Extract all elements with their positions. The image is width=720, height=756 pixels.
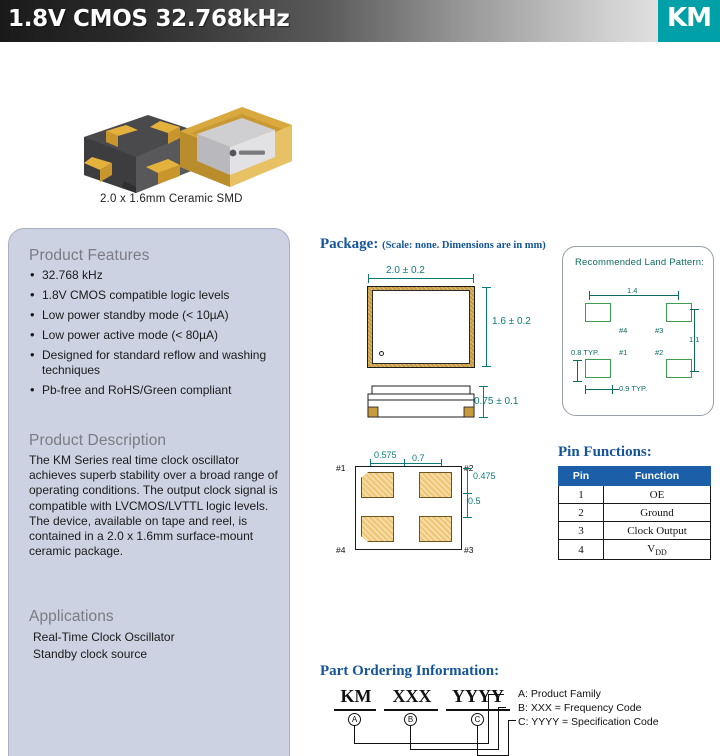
sidebar-panel: Product Features 32.768 kHz 1.8V CMOS co…	[8, 228, 290, 756]
land-dim-tick-11-t	[690, 309, 699, 310]
land-dim-tick-14-l	[589, 291, 590, 300]
applications-heading: Applications	[29, 608, 279, 626]
brand-logo: KM	[658, 0, 720, 42]
land-dim-label-14: 1.4	[627, 286, 637, 295]
dim-label-pad-pitch: 0.7	[412, 453, 425, 463]
leader-a-tip	[488, 694, 504, 695]
pin-label-4: #4	[336, 545, 345, 555]
land-dim-line-09	[585, 389, 619, 390]
product-photo	[70, 95, 300, 205]
dim-label-package-thickness: 0.75 ± 0.1	[474, 396, 518, 407]
dim-line-width	[368, 278, 474, 279]
column-header-pin: Pin	[559, 467, 604, 486]
pin-functions-title: Pin Functions:	[558, 444, 652, 461]
page-header: 1.8V CMOS 32.768kHz KM	[0, 0, 720, 42]
land-dim-tick-11-b	[690, 371, 699, 372]
order-rule-a	[334, 709, 376, 711]
package-subtitle-text: (Scale: none. Dimensions are in mm)	[382, 240, 546, 251]
dim-tick-05-b	[463, 517, 472, 518]
product-features-section: Product Features 32.768 kHz 1.8V CMOS co…	[29, 247, 279, 403]
cell-function: VDD	[604, 540, 711, 560]
cell-pin: 2	[559, 504, 604, 522]
dim-line-07	[404, 463, 442, 464]
land-dim-line-14	[589, 295, 679, 296]
table-row: 4 VDD	[559, 540, 711, 560]
pin1-marker-icon	[379, 351, 384, 356]
cell-function: OE	[604, 486, 711, 504]
land-pin-label-2: #2	[655, 348, 663, 357]
pad-1	[361, 472, 394, 498]
order-legend-a: A: Product Family	[518, 688, 601, 700]
pin-label-3: #3	[464, 545, 473, 555]
land-pad-3	[666, 303, 692, 322]
order-rule-b	[384, 709, 438, 711]
cell-function: Clock Output	[604, 522, 711, 540]
land-dim-tick-08-b	[573, 381, 582, 382]
bottom-view-drawing	[355, 466, 462, 550]
list-item: Pb-free and RoHS/Green compliant	[29, 383, 279, 398]
list-item: 32.768 kHz	[29, 268, 279, 283]
order-token-km: KM	[334, 686, 378, 707]
leader-c-up	[508, 720, 509, 756]
pin-label-1: #1	[336, 463, 345, 473]
leader-b-v	[410, 726, 411, 750]
order-legend-b: B: XXX = Frequency Code	[518, 702, 641, 714]
leader-a-h	[354, 743, 489, 744]
product-features-list: 32.768 kHz 1.8V CMOS compatible logic le…	[29, 268, 279, 398]
dim-label-pad-height: 0.475	[473, 471, 496, 481]
pin-functions-table: Pin Function 1 OE 2 Ground 3 Clock Outpu…	[558, 466, 711, 560]
land-pin-label-1: #1	[619, 348, 627, 357]
leader-b-up	[498, 707, 499, 750]
land-dim-label-11: 1.1	[689, 335, 699, 344]
product-description-section: Product Description The KM Series real t…	[29, 432, 281, 559]
leader-c-tip	[508, 720, 516, 721]
list-item: Real-Time Clock Oscillator	[29, 629, 279, 646]
land-dim-line-08	[577, 360, 578, 382]
land-dim-tick-08-t	[573, 360, 582, 361]
part-ordering-diagram: KM XXX YYYY A B C A: Product Family B: X…	[330, 686, 715, 754]
order-rule-c	[446, 709, 510, 711]
dim-line-0475	[467, 468, 468, 494]
pad-2	[419, 472, 452, 498]
package-side-view	[367, 385, 475, 419]
list-item: Low power standby mode (< 10µA)	[29, 308, 279, 323]
land-dim-label-09: 0.9 TYP.	[619, 384, 647, 393]
cell-pin: 3	[559, 522, 604, 540]
dim-label-pad-offset: 0.575	[374, 450, 397, 460]
dim-line-height	[486, 287, 487, 367]
package-body-inner	[372, 290, 470, 364]
part-ordering-title: Part Ordering Information:	[320, 663, 499, 680]
table-header-row: Pin Function	[559, 467, 711, 486]
order-legend-c: C: YYYY = Specification Code	[518, 716, 659, 728]
dim-label-pad-gap: 0.5	[468, 496, 481, 506]
land-dim-tick-09-r	[612, 385, 613, 394]
order-token-xxx: XXX	[384, 686, 440, 707]
product-description-body: The KM Series real time clock oscillator…	[29, 453, 281, 559]
land-dim-tick-14-r	[678, 291, 679, 300]
applications-section: Applications Real-Time Clock Oscillator …	[29, 608, 279, 663]
dim-tick-right	[473, 274, 474, 283]
land-pad-2	[666, 359, 692, 378]
cell-function: Ground	[604, 504, 711, 522]
list-item: Standby clock source	[29, 646, 279, 663]
list-item: 1.8V CMOS compatible logic levels	[29, 288, 279, 303]
dim-tick-top	[482, 287, 491, 288]
leader-b-h	[410, 749, 499, 750]
column-header-function: Function	[604, 467, 711, 486]
pad-3	[419, 516, 452, 542]
dim-tick-bottom	[482, 366, 491, 367]
list-item: Low power active mode (< 80µA)	[29, 328, 279, 343]
list-item: Designed for standard reflow and washing…	[29, 348, 279, 378]
leader-a-v	[354, 726, 355, 744]
order-marker-a: A	[348, 713, 361, 726]
land-pad-4	[585, 303, 611, 322]
dim-line-0575	[370, 463, 404, 464]
land-pattern-card: Recommended Land Pattern: 1.4 #4 #3 #1 #…	[562, 246, 714, 416]
dim-tick-0475-t	[463, 468, 472, 469]
leader-a-up	[488, 694, 489, 744]
table-row: 2 Ground	[559, 504, 711, 522]
land-dim-tick-09-l	[585, 385, 586, 394]
pad-4	[361, 516, 394, 542]
dim-tick-left	[368, 274, 369, 283]
leader-c-v	[477, 726, 478, 756]
cell-pin: 1	[559, 486, 604, 504]
land-pin-label-4: #4	[619, 326, 627, 335]
package-title-text: Package:	[320, 236, 378, 252]
table-row: 1 OE	[559, 486, 711, 504]
dim-tick-thick-bottom	[479, 417, 488, 418]
leader-b-tip	[498, 707, 506, 708]
dim-label-package-height: 1.6 ± 0.2	[492, 316, 531, 327]
cell-pin: 4	[559, 540, 604, 560]
land-pin-label-3: #3	[655, 326, 663, 335]
brand-logo-text: KM	[658, 3, 720, 33]
order-token-yyyy: YYYY	[444, 686, 512, 707]
table-row: 3 Clock Output	[559, 522, 711, 540]
product-features-heading: Product Features	[29, 247, 279, 265]
order-marker-b: B	[404, 713, 417, 726]
land-pad-1	[585, 359, 611, 378]
land-dim-label-08: 0.8 TYP.	[571, 348, 599, 357]
order-marker-c: C	[471, 713, 484, 726]
land-pattern-title: Recommended Land Pattern:	[575, 257, 704, 268]
page-title: 1.8V CMOS 32.768kHz	[8, 6, 289, 32]
dim-tick-thick-top	[479, 386, 488, 387]
top-view-drawing	[367, 286, 475, 368]
dim-label-package-width: 2.0 ± 0.2	[386, 265, 425, 276]
product-photo-caption: 2.0 x 1.6mm Ceramic SMD	[100, 193, 243, 205]
package-section-title: Package: (Scale: none. Dimensions are in…	[320, 236, 546, 253]
product-description-heading: Product Description	[29, 432, 281, 450]
